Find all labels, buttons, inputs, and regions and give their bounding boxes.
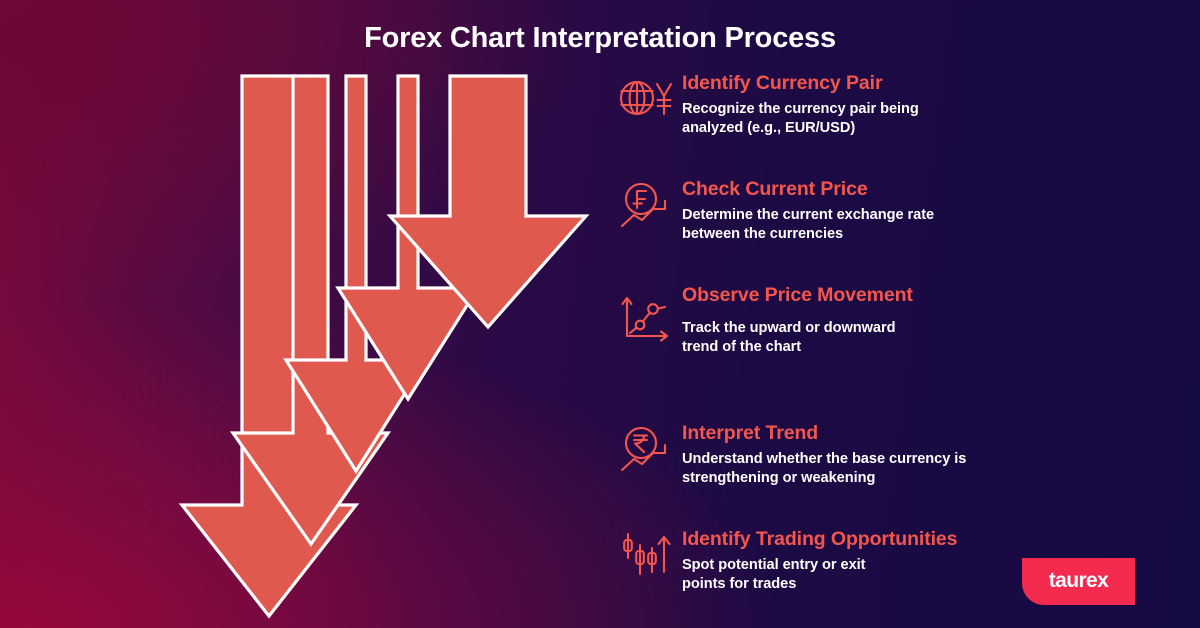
step-heading: Identify Currency Pair bbox=[682, 72, 1022, 95]
line-chart-points-icon bbox=[620, 284, 682, 358]
step-item-check-current-price: Check Current Price Determine the curren… bbox=[620, 178, 1022, 245]
step-text: Identify Trading Opportunities Spot pote… bbox=[682, 528, 1022, 595]
step-text: Interpret Trend Understand whether the b… bbox=[682, 422, 1022, 489]
step-item-observe-price-movement: Observe Price Movement Track the upward … bbox=[620, 284, 1022, 358]
step-heading: Interpret Trend bbox=[682, 422, 1022, 445]
step-body: Recognize the currency pair being analyz… bbox=[682, 100, 1022, 139]
infographic-canvas: Forex Chart Interpretation Process bbox=[0, 0, 1200, 628]
logo-text: taurex bbox=[1049, 570, 1108, 591]
step-heading: Check Current Price bbox=[682, 178, 1022, 201]
step-text: Check Current Price Determine the curren… bbox=[682, 178, 1022, 245]
step-text: Observe Price Movement Track the upward … bbox=[682, 284, 1022, 358]
candlestick-uptrend-icon bbox=[620, 528, 682, 595]
step-heading: Observe Price Movement bbox=[682, 284, 1022, 307]
step-body: Spot potential entry or exit points for … bbox=[682, 556, 1022, 595]
arrow-shape-5 bbox=[182, 76, 356, 616]
step-heading: Identify Trading Opportunities bbox=[682, 528, 1022, 551]
step-item-interpret-trend: Interpret Trend Understand whether the b… bbox=[620, 422, 1022, 489]
step-body: Track the upward or downward trend of th… bbox=[682, 319, 1022, 358]
globe-yen-icon bbox=[620, 72, 682, 139]
step-item-identify-currency-pair: Identify Currency Pair Recognize the cur… bbox=[620, 72, 1022, 139]
step-item-identify-trading-opportunities: Identify Trading Opportunities Spot pote… bbox=[620, 528, 1022, 595]
page-title: Forex Chart Interpretation Process bbox=[0, 22, 1200, 55]
step-body: Understand whether the base currency is … bbox=[682, 450, 1022, 489]
step-text: Identify Currency Pair Recognize the cur… bbox=[682, 72, 1022, 139]
franc-coin-uptrend-icon bbox=[620, 178, 682, 245]
descending-arrows-graphic bbox=[168, 60, 648, 622]
step-body: Determine the current exchange rate betw… bbox=[682, 206, 1022, 245]
rupee-coin-uptrend-icon bbox=[620, 422, 682, 489]
taurex-logo[interactable]: taurex bbox=[1022, 558, 1135, 605]
